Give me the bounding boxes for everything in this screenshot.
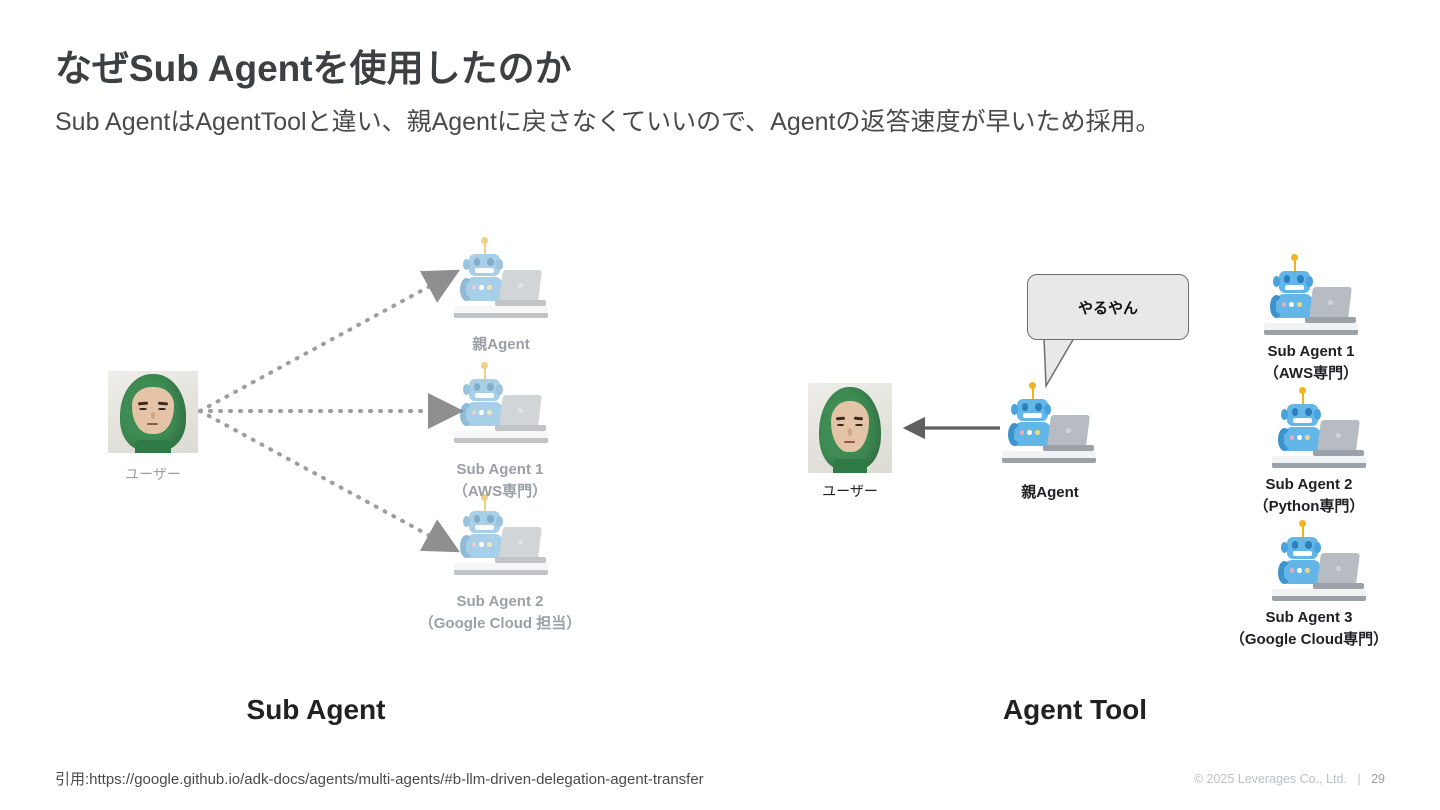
right-user-label: ユーザー <box>790 481 910 501</box>
robot-icon-right-parent <box>1000 382 1098 470</box>
page-title: なぜSub Agentを使用したのか <box>55 38 572 92</box>
left-connector-bottom <box>200 411 432 537</box>
footer-separator: | <box>1357 772 1360 786</box>
avatar <box>108 371 198 453</box>
robot-icon-right-sub1 <box>1262 254 1360 342</box>
page-subtitle: Sub AgentはAgentToolと違い、親Agentに戻さなくていいので、… <box>55 102 1161 138</box>
left-node-label-2: Sub Agent 2 （Google Cloud 担当） <box>385 591 615 635</box>
right-node-label-2: Sub Agent 3 （Google Cloud専門） <box>1189 607 1429 651</box>
left-connector-top <box>200 285 432 411</box>
left-user-label: ユーザー <box>93 464 213 484</box>
robot-icon-left-sub1 <box>452 362 550 450</box>
left-section-heading: Sub Agent <box>186 694 446 726</box>
right-parent-label: 親Agent <box>970 482 1130 504</box>
right-section-heading: Agent Tool <box>945 694 1205 726</box>
footer-copyright: © 2025 Leverages Co., Ltd. | 29 <box>1194 772 1385 786</box>
citation-link[interactable]: 引用:https://google.github.io/adk-docs/age… <box>55 768 704 789</box>
speech-bubble-tail <box>1044 337 1074 386</box>
speech-bubble-text: やるやん <box>1078 297 1138 318</box>
robot-icon-right-sub2 <box>1270 387 1368 475</box>
page-number: 29 <box>1371 772 1385 786</box>
avatar <box>808 383 892 473</box>
right-node-label-1: Sub Agent 2 （Python専門） <box>1209 474 1409 518</box>
robot-icon-left-parent <box>452 237 550 325</box>
right-node-label-0: Sub Agent 1 （AWS専門） <box>1211 341 1411 385</box>
left-node-label-0: 親Agent <box>411 334 591 356</box>
speech-bubble: やるやん <box>1027 274 1189 340</box>
robot-icon-left-sub2 <box>452 494 550 582</box>
copyright-text: © 2025 Leverages Co., Ltd. <box>1194 772 1347 786</box>
robot-icon-right-sub3 <box>1270 520 1368 608</box>
